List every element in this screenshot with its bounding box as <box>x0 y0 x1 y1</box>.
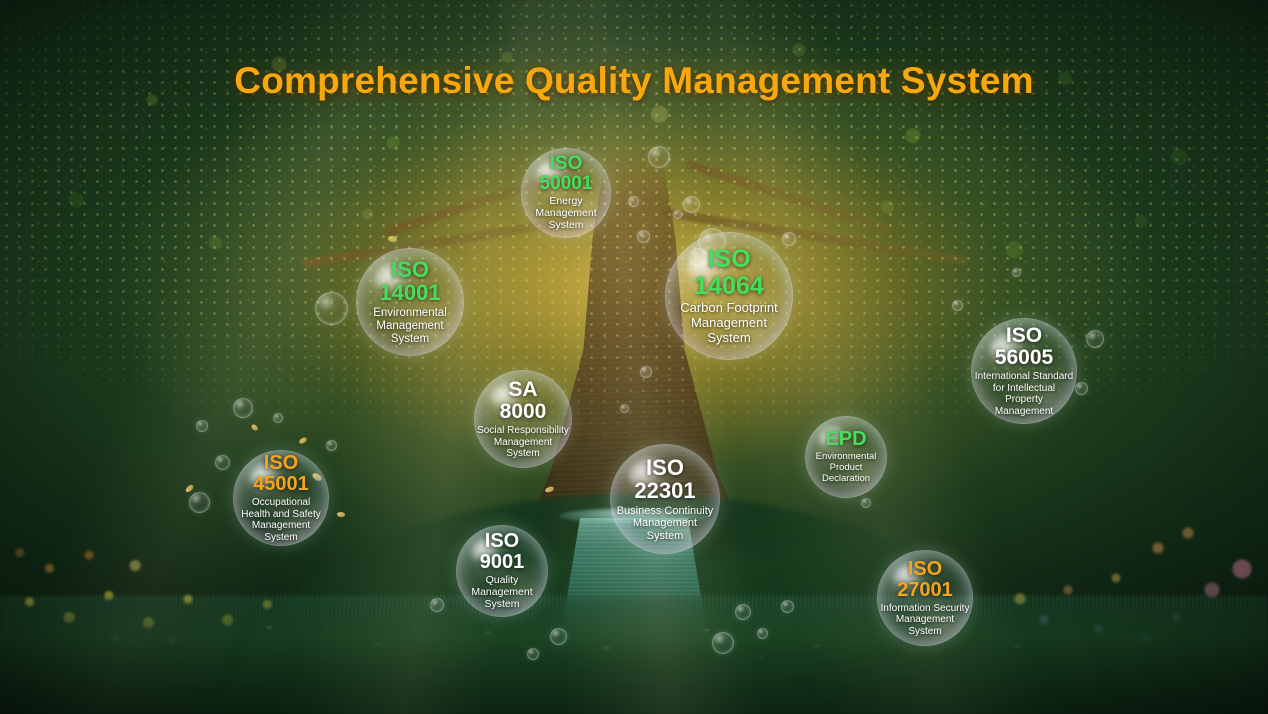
certification-bubble-iso-45001[interactable]: ISO 45001Occupational Health and Safety … <box>233 450 329 546</box>
certification-desc-sa-8000: Social Responsibility Management System <box>477 425 569 459</box>
decor-bubble-22 <box>712 632 734 654</box>
decor-bubble-27 <box>861 498 871 508</box>
certification-bubble-iso-14064[interactable]: ISO 14064Carbon Footprint Management Sys… <box>665 232 793 360</box>
certification-desc-iso-56005: International Standard for Intellectual … <box>975 371 1073 417</box>
certification-bubble-iso-14001[interactable]: ISO 14001Environmental Management System <box>356 248 464 356</box>
decor-bubble-4 <box>628 196 639 207</box>
certification-bubble-epd[interactable]: EPDEnvironmental Product Declaration <box>805 416 887 498</box>
certification-desc-iso-9001: Quality Management System <box>471 575 532 611</box>
certification-bubble-iso-9001[interactable]: ISO 9001Quality Management System <box>456 525 548 617</box>
decor-bubble-20 <box>735 604 751 620</box>
decor-bubble-16 <box>326 440 337 451</box>
page-title: Comprehensive Quality Management System <box>0 60 1268 102</box>
certification-code-iso-22301: ISO 22301 <box>634 456 695 503</box>
certification-bubble-iso-50001[interactable]: ISO 50001Energy Management System <box>521 148 611 238</box>
certification-bubble-sa-8000[interactable]: SA 8000Social Responsibility Management … <box>474 370 572 468</box>
decor-bubble-19 <box>952 300 963 311</box>
decor-bubble-11 <box>233 398 253 418</box>
decor-bubble-10 <box>315 292 348 325</box>
certification-code-iso-14001: ISO 14001 <box>379 258 440 305</box>
vignette-overlay <box>0 0 1268 714</box>
certification-code-iso-50001: ISO 50001 <box>540 154 593 194</box>
certification-code-sa-8000: SA 8000 <box>500 379 547 424</box>
decor-bubble-12 <box>273 413 283 423</box>
decor-bubble-14 <box>196 420 208 432</box>
certification-code-iso-27001: ISO 27001 <box>897 559 953 601</box>
certification-desc-iso-50001: Energy Management System <box>535 196 596 232</box>
certification-code-epd: EPD <box>825 429 866 450</box>
decor-bubble-25 <box>527 648 539 660</box>
decor-bubble-28 <box>1012 268 1021 277</box>
decor-bubble-7 <box>782 232 796 246</box>
decor-bubble-21 <box>757 628 768 639</box>
certification-code-iso-9001: ISO 9001 <box>480 531 525 573</box>
certification-desc-iso-27001: Information Security Management System <box>881 603 970 637</box>
certification-bubble-iso-22301[interactable]: ISO 22301Business Continuity Management … <box>610 444 720 554</box>
certification-desc-iso-14064: Carbon Footprint Management System <box>680 301 778 345</box>
certification-bubble-iso-56005[interactable]: ISO 56005International Standard for Inte… <box>971 318 1077 424</box>
decor-bubble-8 <box>640 366 652 378</box>
scene-canvas: Comprehensive Quality Management System … <box>0 0 1268 714</box>
certification-code-iso-14064: ISO 14064 <box>694 246 764 299</box>
decor-bubble-17 <box>1086 330 1104 348</box>
decor-bubble-0 <box>648 146 670 168</box>
certification-code-iso-56005: ISO 56005 <box>995 325 1053 370</box>
certification-desc-iso-22301: Business Continuity Management System <box>617 505 714 543</box>
decor-bubble-23 <box>781 600 794 613</box>
certification-desc-iso-14001: Environmental Management System <box>373 307 447 346</box>
decor-bubble-26 <box>430 598 444 612</box>
decor-bubble-3 <box>673 210 682 219</box>
certification-desc-epd: Environmental Product Declaration <box>816 452 877 484</box>
decor-bubble-24 <box>550 628 567 645</box>
decor-bubble-9 <box>620 404 629 413</box>
decor-bubble-15 <box>189 492 210 513</box>
certification-bubble-iso-27001[interactable]: ISO 27001Information Security Management… <box>877 550 973 646</box>
decor-bubble-18 <box>1075 382 1088 395</box>
certification-desc-iso-45001: Occupational Health and Safety Managemen… <box>241 497 321 543</box>
certification-code-iso-45001: ISO 45001 <box>253 453 309 495</box>
decor-bubble-13 <box>215 455 230 470</box>
decor-bubble-1 <box>683 196 700 213</box>
decor-bubble-2 <box>637 230 650 243</box>
